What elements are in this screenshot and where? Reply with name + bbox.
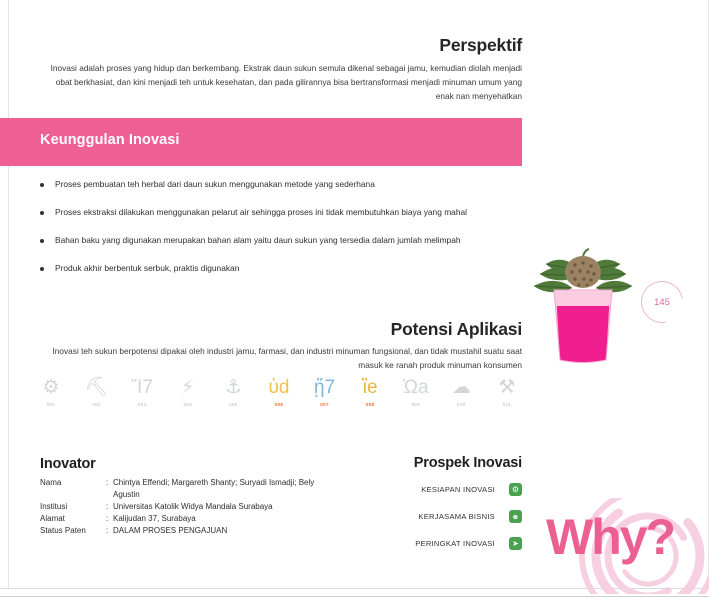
construction-icon: Ἵ7 (125, 374, 159, 400)
page-number-badge: 145 (641, 281, 683, 323)
perspektif-body: Inovasi adalah proses yang hidup dan ber… (0, 62, 522, 103)
application-icon-caption: 009 (399, 402, 433, 407)
list-item-text: Bahan baku yang digunakan merupakan baha… (55, 234, 461, 247)
application-icon-caption: 001 (34, 402, 68, 407)
prospek-list: KESIAPAN INOVASI⚙KERJASAMA BISNIS๏PERING… (340, 483, 522, 550)
application-icon-002: ⛏002 (80, 374, 114, 407)
keunggulan-bullet-list: Proses pembuatan teh herbal dari daun su… (40, 178, 510, 290)
inovator-title: Inovator (40, 456, 340, 472)
research-icon: ὐd (262, 374, 296, 400)
application-icon-001: ⚙001 (34, 374, 68, 407)
inovator-row: Status Paten:DALAM PROSES PENGAJUAN (40, 525, 340, 537)
agriculture-icon: ἳe (353, 374, 387, 400)
bullet-dot-icon (40, 239, 44, 243)
application-icon-009: Ὡa009 (399, 374, 433, 407)
prospek-row-label: KESIAPAN INOVASI (421, 485, 495, 494)
list-item: Proses ekstraksi dilakukan menggunakan p… (40, 206, 510, 219)
energy-icon: ⚡ (171, 374, 205, 400)
inovator-row-value: DALAM PROSES PENGAJUAN (113, 525, 340, 537)
inovator-row-separator: : (106, 525, 113, 537)
list-item-text: Produk akhir berbentuk serbuk, praktis d… (55, 262, 239, 275)
potensi-title: Potensi Aplikasi (0, 320, 522, 339)
application-icon-006: ὐd006 (262, 374, 296, 407)
cloud-icon: ☁ (444, 374, 478, 400)
inovator-row: Alamat:Kalijudan 37, Surabaya (40, 513, 340, 525)
transport-icon: Ὡa (399, 374, 433, 400)
application-icon-caption: 003 (125, 402, 159, 407)
application-icon-003: Ἵ7003 (125, 374, 159, 407)
inovator-row-value: Kalijudan 37, Surabaya (113, 513, 340, 525)
prospek-title: Prospek Inovasi (340, 455, 522, 471)
inovator-row-key: Institusi (40, 501, 106, 513)
keunggulan-banner: Keunggulan Inovasi (0, 118, 522, 166)
inovator-row-value: Chintya Effendi; Margareth Shanty; Surya… (113, 477, 340, 501)
application-icon-caption: 006 (262, 402, 296, 407)
page-number-text: 145 (641, 281, 683, 323)
bullet-dot-icon (40, 211, 44, 215)
perspektif-section: Perspektif Inovasi adalah proses yang hi… (0, 36, 522, 103)
machinery-icon: ⚒ (490, 374, 524, 400)
list-item-text: Proses ekstraksi dilakukan menggunakan p… (55, 206, 467, 219)
prospek-inovasi-section: Prospek Inovasi KESIAPAN INOVASI⚙KERJASA… (340, 455, 522, 564)
application-icon-caption: 007 (308, 402, 342, 407)
application-icon-caption: 008 (353, 402, 387, 407)
breadfruit-tea-illustration (528, 248, 638, 368)
food-icon: ᾕ7 (308, 374, 342, 400)
factory-icon: ⚙ (34, 374, 68, 400)
application-icon-005: ⚓005 (216, 374, 250, 407)
application-icon-008: ἳe008 (353, 374, 387, 407)
application-icon-caption: 002 (80, 402, 114, 407)
application-icon-caption: 005 (216, 402, 250, 407)
perspektif-title: Perspektif (0, 36, 522, 55)
page-canvas: Perspektif Inovasi adalah proses yang hi… (0, 0, 709, 600)
inovator-row-key: Status Paten (40, 525, 106, 537)
inovator-row-key: Alamat (40, 513, 106, 525)
bullet-dot-icon (40, 267, 44, 271)
application-icon-007: ᾕ7007 (308, 374, 342, 407)
page-frame-bottom-shadow (0, 596, 709, 597)
inovator-row-key: Nama (40, 477, 106, 501)
potensi-aplikasi-section: Potensi Aplikasi Inovasi teh sukun berpo… (0, 320, 522, 372)
bullet-dot-icon (40, 183, 44, 187)
application-icon-011: ⚒011 (490, 374, 524, 407)
prospek-row-label: PERINGKAT INOVASI (415, 539, 495, 548)
prospek-row: KESIAPAN INOVASI⚙ (340, 483, 522, 496)
gear-badge-icon: ⚙ (509, 483, 522, 496)
list-item: Bahan baku yang digunakan merupakan baha… (40, 234, 510, 247)
application-icon-caption: 010 (444, 402, 478, 407)
application-icon-caption: 004 (171, 402, 205, 407)
application-icon-004: ⚡004 (171, 374, 205, 407)
why-watermark: Why? (520, 498, 709, 594)
why-text: Why? (546, 512, 674, 562)
mining-icon: ⛏ (80, 374, 114, 400)
inovator-row-separator: : (106, 501, 113, 513)
inovator-section: Inovator Nama:Chintya Effendi; Margareth… (40, 456, 340, 537)
keunggulan-banner-title: Keunggulan Inovasi (40, 132, 180, 148)
inovator-row-separator: : (106, 513, 113, 525)
prospek-row: KERJASAMA BISNIS๏ (340, 510, 522, 523)
list-item-text: Proses pembuatan teh herbal dari daun su… (55, 178, 375, 191)
inovator-table: Nama:Chintya Effendi; Margareth Shanty; … (40, 477, 340, 537)
inovator-row: Institusi:Universitas Katolik Widya Mand… (40, 501, 340, 513)
prospek-row-label: KERJASAMA BISNIS (418, 512, 495, 521)
ship-icon: ⚓ (216, 374, 250, 400)
application-icon-strip: ⚙001⛏002Ἵ7003⚡004⚓005ὐd006ᾕ7007ἳe008Ὡa00… (34, 374, 524, 407)
potensi-body: Inovasi teh sukun berpotensi dipakai ole… (0, 345, 522, 372)
inovator-row: Nama:Chintya Effendi; Margareth Shanty; … (40, 477, 340, 501)
application-icon-caption: 011 (490, 402, 524, 407)
list-item: Proses pembuatan teh herbal dari daun su… (40, 178, 510, 191)
list-item: Produk akhir berbentuk serbuk, praktis d… (40, 262, 510, 275)
application-icon-010: ☁010 (444, 374, 478, 407)
inovator-row-value: Universitas Katolik Widya Mandala Suraba… (113, 501, 340, 513)
inovator-row-separator: : (106, 477, 113, 501)
prospek-row: PERINGKAT INOVASI➤ (340, 537, 522, 550)
